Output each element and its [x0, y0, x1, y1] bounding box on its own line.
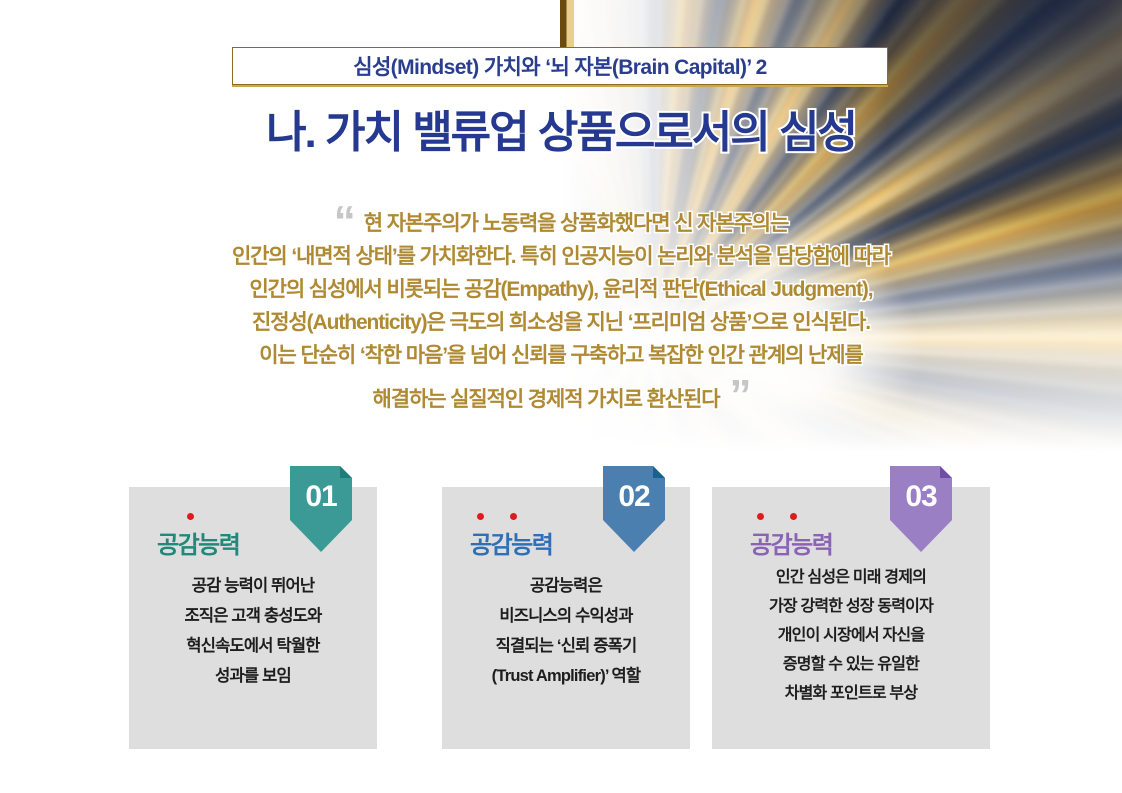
card-body-line: 성과를 보임	[129, 661, 377, 691]
card-03[interactable]: 03 공감능력 인간 심성은 미래 경제의 가장 강력한 성장 동력이자 개인이…	[712, 487, 990, 749]
kicker-title-box: 심성(Mindset) 가치와 ‘뇌 자본(Brain Capital)’ 2	[232, 47, 888, 85]
card-number: 03	[890, 480, 952, 514]
kicker-title-text: 심성(Mindset) 가치와 ‘뇌 자본(Brain Capital)’ 2	[353, 51, 767, 81]
quote-line-text: 현 자본주의가 노동력을 상품화했다면 신 자본주의는	[364, 212, 789, 235]
card-body: 공감 능력이 뛰어난 조직은 고객 충성도와 혁신속도에서 탁월한 성과를 보임	[129, 571, 377, 691]
arrow-fold	[940, 466, 952, 478]
accent-dot	[757, 513, 764, 520]
card-number: 01	[290, 480, 352, 514]
card-body-line: 가장 강력한 성장 동력이자	[712, 592, 990, 621]
quote-line: 인간의 ‘내면적 상태’를 가치화한다. 특히 인공지능이 논리와 분석을 담당…	[0, 240, 1122, 273]
card-body-line: 혁신속도에서 탁월한	[129, 631, 377, 661]
quote-block: “현 자본주의가 노동력을 상품화했다면 신 자본주의는 인간의 ‘내면적 상태…	[0, 196, 1122, 416]
card-body-line: 인간 심성은 미래 경제의	[712, 563, 990, 592]
quote-line-text: 해결하는 실질적인 경제적 가치로 환산된다	[373, 388, 720, 411]
card-body-line: 직결되는 ‘신뢰 증폭기	[442, 631, 690, 661]
accent-dot	[477, 513, 484, 520]
card-02[interactable]: 02 공감능력 공감능력은 비즈니스의 수익성과 직결되는 ‘신뢰 증폭기 (T…	[442, 487, 690, 749]
card-heading-text: 공감능력	[157, 532, 239, 559]
close-quote-icon: ”	[729, 374, 749, 418]
card-body-line: 공감 능력이 뛰어난	[129, 571, 377, 601]
card-body-line: 공감능력은	[442, 571, 690, 601]
card-heading-text: 공감능력	[750, 532, 832, 559]
slide: 심성(Mindset) 가치와 ‘뇌 자본(Brain Capital)’ 2 …	[0, 0, 1122, 793]
accent-dot	[187, 513, 194, 520]
card-number: 02	[603, 480, 665, 514]
card-body-line: (Trust Amplifier)’ 역할	[442, 661, 690, 691]
accent-dot	[790, 513, 797, 520]
arrow-fold	[653, 466, 665, 478]
card-body-line: 조직은 고객 충성도와	[129, 601, 377, 631]
card-heading-text: 공감능력	[470, 532, 552, 559]
card-body-line: 개인이 시장에서 자신을	[712, 621, 990, 650]
card-row: 01 공감능력 공감 능력이 뛰어난 조직은 고객 충성도와 혁신속도에서 탁월…	[0, 487, 1122, 749]
page-title: 나. 가치 밸류업 상품으로서의 심성	[0, 96, 1122, 160]
quote-line: 해결하는 실질적인 경제적 가치로 환산된다”	[0, 372, 1122, 416]
card-body-line: 증명할 수 있는 유일한	[712, 650, 990, 679]
top-gold-bar	[560, 0, 574, 47]
card-body-line: 차별화 포인트로 부상	[712, 679, 990, 708]
arrow-fold	[340, 466, 352, 478]
card-body: 공감능력은 비즈니스의 수익성과 직결되는 ‘신뢰 증폭기 (Trust Amp…	[442, 571, 690, 691]
quote-line: 진정성(Authenticity)은 극도의 희소성을 지닌 ‘프리미엄 상품’…	[0, 306, 1122, 339]
accent-dot	[510, 513, 517, 520]
card-01[interactable]: 01 공감능력 공감 능력이 뛰어난 조직은 고객 충성도와 혁신속도에서 탁월…	[129, 487, 377, 749]
card-body: 인간 심성은 미래 경제의 가장 강력한 성장 동력이자 개인이 시장에서 자신…	[712, 563, 990, 708]
card-heading: 공감능력	[129, 525, 377, 560]
quote-line: “현 자본주의가 노동력을 상품화했다면 신 자본주의는	[0, 196, 1122, 240]
card-body-line: 비즈니스의 수익성과	[442, 601, 690, 631]
open-quote-icon: “	[334, 200, 354, 244]
quote-line: 인간의 심성에서 비롯되는 공감(Empathy), 윤리적 판단(Ethica…	[0, 273, 1122, 306]
card-heading: 공감능력	[712, 525, 990, 560]
card-heading: 공감능력	[442, 525, 690, 560]
quote-line: 이는 단순히 ‘착한 마음’을 넘어 신뢰를 구축하고 복잡한 인간 관계의 난…	[0, 339, 1122, 372]
